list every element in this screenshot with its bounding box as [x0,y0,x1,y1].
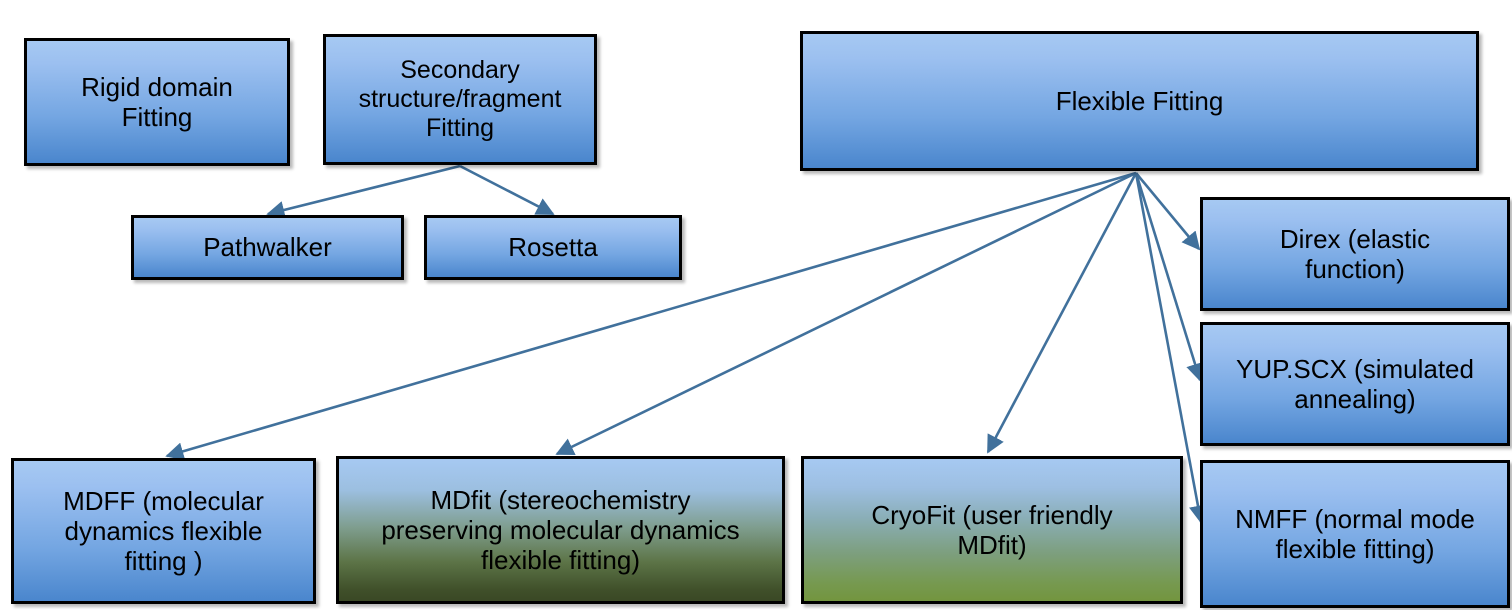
edge-flexible-to-cryofit [988,173,1136,452]
node-label-yupscx: YUP.SCX (simulated annealing) [1209,354,1501,414]
node-flexible-fitting[interactable]: Flexible Fitting [800,31,1479,171]
edge-secondary-to-rosetta [460,166,553,214]
node-secondary-structure-fitting[interactable]: Secondary structure/fragment Fitting [323,34,597,165]
node-label-direx: Direx (elastic function) [1209,224,1501,284]
node-mdfit[interactable]: MDfit (stereochemistry preserving molecu… [336,456,785,604]
node-nmff[interactable]: NMFF (normal mode flexible fitting) [1200,460,1510,608]
node-label-mdfit: MDfit (stereochemistry preserving molecu… [345,485,776,575]
node-label-secondary-structure-fitting: Secondary structure/fragment Fitting [332,56,588,143]
node-label-rigid-domain-fitting: Rigid domain Fitting [33,72,281,132]
diagram-canvas: Rigid domain Fitting Secondary structure… [0,0,1512,610]
node-label-rosetta: Rosetta [433,232,673,262]
node-label-pathwalker: Pathwalker [140,232,395,262]
node-mdff[interactable]: MDFF (molecular dynamics flexible fittin… [11,458,316,604]
node-label-nmff: NMFF (normal mode flexible fitting) [1209,504,1501,564]
edge-flexible-to-direx [1136,173,1199,249]
node-label-mdff: MDFF (molecular dynamics flexible fittin… [20,486,307,576]
node-label-flexible-fitting: Flexible Fitting [809,86,1470,116]
node-pathwalker[interactable]: Pathwalker [131,215,404,280]
node-rosetta[interactable]: Rosetta [424,215,682,280]
node-yupscx[interactable]: YUP.SCX (simulated annealing) [1200,322,1510,446]
edge-flexible-to-yupscx [1136,173,1200,380]
node-direx[interactable]: Direx (elastic function) [1200,197,1510,311]
node-label-cryofit: CryoFit (user friendly MDfit) [810,500,1174,560]
node-rigid-domain-fitting[interactable]: Rigid domain Fitting [24,38,290,166]
node-cryofit[interactable]: CryoFit (user friendly MDfit) [801,456,1183,604]
edge-secondary-to-pathwalker [268,166,460,214]
